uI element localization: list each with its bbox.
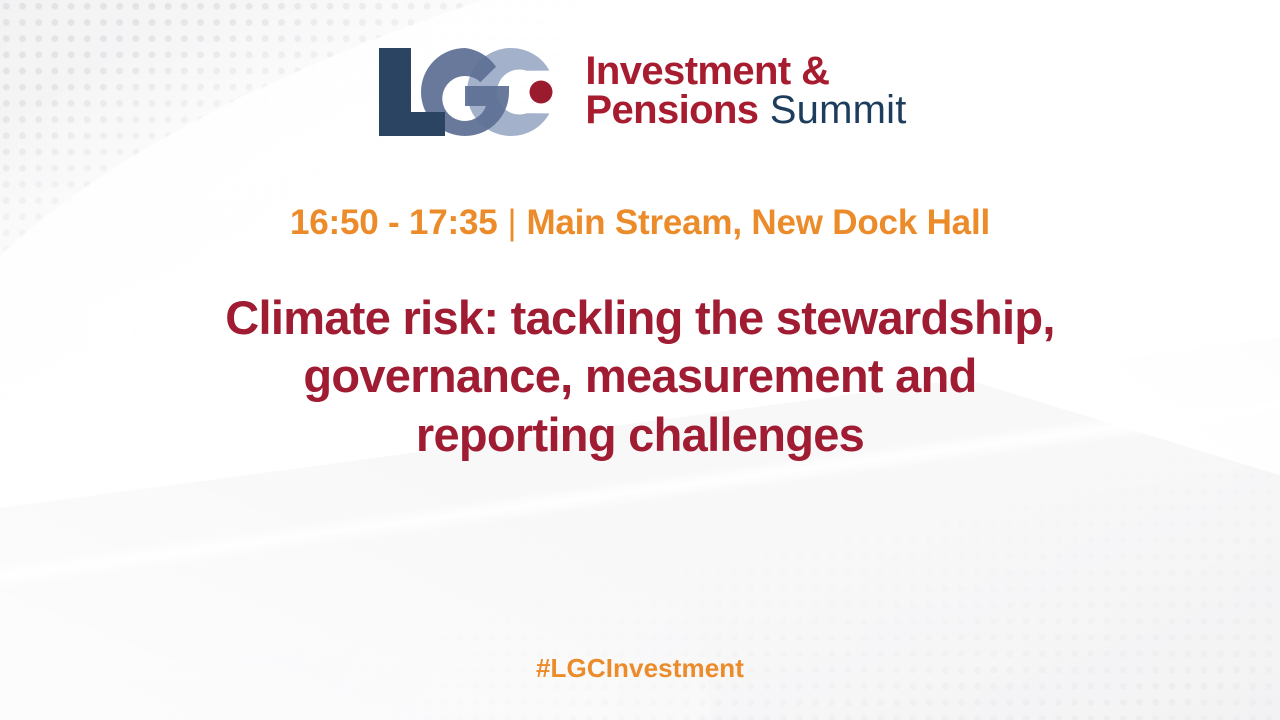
wordmark-summit [758, 88, 769, 132]
lgc-logo-mark-icon [373, 46, 569, 138]
wordmark-pensions: Pensions [585, 88, 758, 132]
lgc-summit-logo: Investment & Pensions Summit [373, 44, 906, 140]
session-title-line-2: governance, measurement and [80, 347, 1200, 405]
session-title-line-1: Climate risk: tackling the stewardship, [80, 289, 1200, 347]
presentation-slide: Investment & Pensions Summit 16:50 - 17:… [0, 0, 1280, 720]
wordmark-line-investment: Investment & [585, 52, 906, 91]
event-hashtag: #LGCInvestment [0, 653, 1280, 684]
session-title-line-3: reporting challenges [80, 406, 1200, 464]
session-location: Main Stream, New Dock Hall [526, 203, 990, 243]
session-meta-separator: | [498, 203, 527, 243]
session-title: Climate risk: tackling the stewardship, … [80, 289, 1200, 464]
logo-wordmark: Investment & Pensions Summit [585, 52, 906, 132]
session-time: 16:50 - 17:35 [290, 203, 498, 243]
session-meta-line: 16:50 - 17:35 | Main Stream, New Dock Ha… [290, 203, 990, 243]
wordmark-summit-text: Summit [770, 88, 907, 132]
wordmark-line-pensions-summit: Pensions Summit [585, 91, 906, 130]
